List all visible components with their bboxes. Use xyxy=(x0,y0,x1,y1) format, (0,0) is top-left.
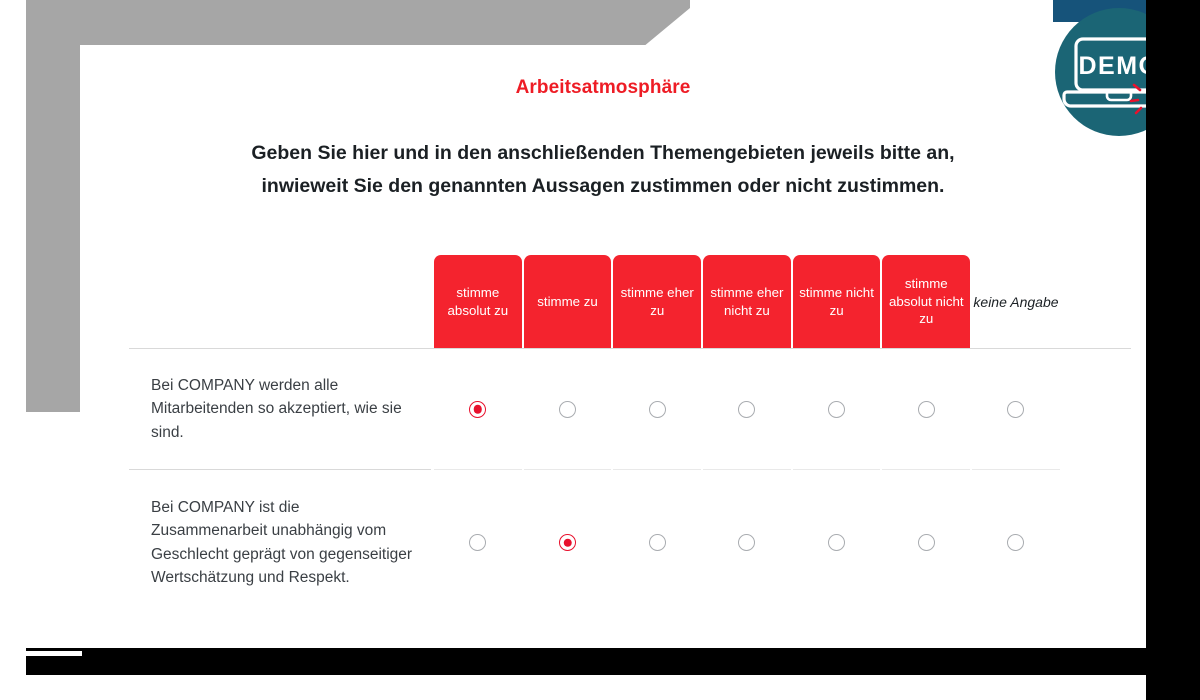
radio-button[interactable] xyxy=(649,534,666,551)
screenshot-root: Arbeitsatmosphäre Geben Sie hier und in … xyxy=(0,0,1200,700)
matrix-header-col-0: stimme absolut zu xyxy=(433,255,523,348)
radio-button[interactable] xyxy=(469,401,486,418)
radio-cell-r1-c3[interactable] xyxy=(702,470,792,615)
laptop-notch-icon xyxy=(1107,92,1131,100)
radio-button[interactable] xyxy=(649,401,666,418)
instructions-line-1: Geben Sie hier und in den anschließenden… xyxy=(103,137,1103,170)
radio-cell-r0-c6[interactable] xyxy=(971,349,1061,469)
radio-cell-r1-c0[interactable] xyxy=(433,470,523,615)
table-row: Bei COMPANY werden alle Mitarbeitenden s… xyxy=(129,349,1131,469)
radio-button[interactable] xyxy=(559,401,576,418)
radio-cell-r1-c5[interactable] xyxy=(881,470,971,615)
statement-text: Bei COMPANY werden alle Mitarbeitenden s… xyxy=(129,349,433,469)
radio-cell-r1-c2[interactable] xyxy=(612,470,702,615)
radio-button[interactable] xyxy=(918,534,935,551)
bottom-black-bar xyxy=(26,648,1174,675)
matrix-header-col-2: stimme eher zu xyxy=(612,255,702,348)
scale-chip-stimme-eher-nicht-zu: stimme eher nicht zu xyxy=(703,255,791,348)
radio-cell-r0-c3[interactable] xyxy=(702,349,792,469)
radio-button[interactable] xyxy=(738,534,755,551)
radio-button[interactable] xyxy=(559,534,576,551)
radio-cell-r0-c4[interactable] xyxy=(792,349,882,469)
matrix-header-col-3: stimme eher nicht zu xyxy=(702,255,792,348)
right-black-bar xyxy=(1146,0,1200,700)
radio-button[interactable] xyxy=(828,401,845,418)
scale-chip-stimme-absolut-zu: stimme absolut zu xyxy=(434,255,522,348)
radio-button[interactable] xyxy=(469,534,486,551)
instructions-line-2: inwieweit Sie den genannten Aussagen zus… xyxy=(103,170,1103,203)
survey-instructions: Geben Sie hier und in den anschließenden… xyxy=(103,137,1103,203)
matrix-header-col-1: stimme zu xyxy=(523,255,613,348)
matrix-header-col-6: keine Angabe xyxy=(971,255,1061,348)
radio-button[interactable] xyxy=(738,401,755,418)
matrix-header-row: stimme absolut zu stimme zu stimme eher … xyxy=(129,250,1131,348)
survey-matrix: stimme absolut zu stimme zu stimme eher … xyxy=(129,250,1131,615)
scale-chip-stimme-nicht-zu: stimme nicht zu xyxy=(793,255,881,348)
matrix-header-col-4: stimme nicht zu xyxy=(792,255,882,348)
radio-button[interactable] xyxy=(1007,534,1024,551)
radio-button[interactable] xyxy=(1007,401,1024,418)
matrix-header-col-5: stimme absolut nicht zu xyxy=(881,255,971,348)
scale-chip-stimme-absolut-nicht-zu: stimme absolut nicht zu xyxy=(882,255,970,348)
survey-card: Arbeitsatmosphäre Geben Sie hier und in … xyxy=(80,45,1146,648)
page-title: Arbeitsatmosphäre xyxy=(80,77,1126,99)
statement-text: Bei COMPANY ist die Zusammenarbeit unabh… xyxy=(129,470,433,615)
radio-button[interactable] xyxy=(828,534,845,551)
radio-cell-r0-c2[interactable] xyxy=(612,349,702,469)
radio-cell-r0-c0[interactable] xyxy=(433,349,523,469)
scale-label-keine-angabe: keine Angabe xyxy=(971,255,1061,348)
radio-cell-r0-c1[interactable] xyxy=(523,349,613,469)
table-row: Bei COMPANY ist die Zusammenarbeit unabh… xyxy=(129,470,1131,615)
radio-cell-r1-c1[interactable] xyxy=(523,470,613,615)
radio-cell-r0-c5[interactable] xyxy=(881,349,971,469)
scale-chip-stimme-eher-zu: stimme eher zu xyxy=(613,255,701,348)
bottom-black-bar-notch xyxy=(26,651,82,656)
scale-chip-stimme-zu: stimme zu xyxy=(524,255,612,348)
radio-cell-r1-c4[interactable] xyxy=(792,470,882,615)
radio-button[interactable] xyxy=(918,401,935,418)
radio-cell-r1-c6[interactable] xyxy=(971,470,1061,615)
